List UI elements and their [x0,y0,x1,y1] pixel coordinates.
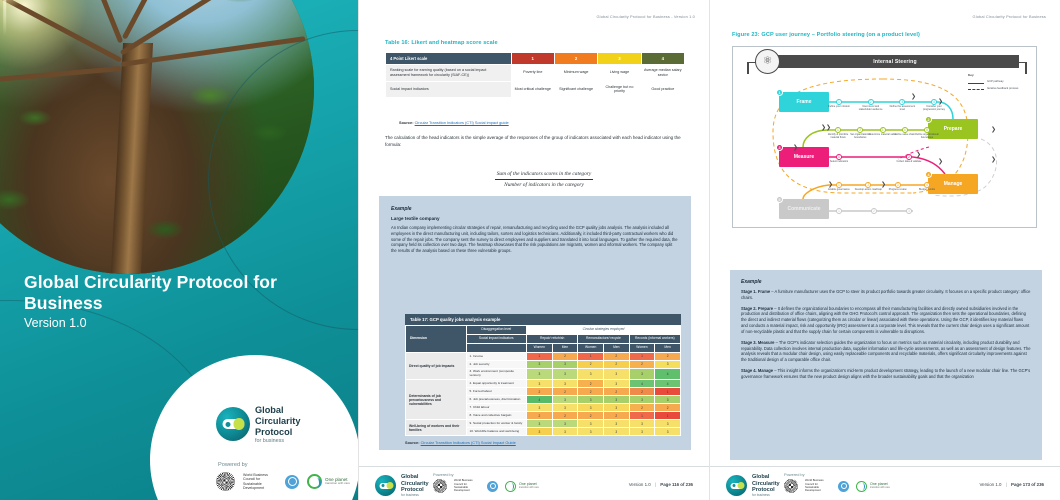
table-17-score-cell: 3 [527,380,553,388]
table-17-score-cell: 3 [629,368,655,379]
gcp-logomark-icon [726,475,747,496]
pathway-arrow-icon: ❯ [991,157,996,163]
table-17-score-cell: 3 [552,404,578,412]
table-17-score-cell: 3 [603,380,629,388]
table-17-score-cell: 2 [527,412,553,420]
legend-row-dashed: Iterative feedback process [968,87,1030,91]
table-16-cell: Average median salary sector [641,65,684,82]
logo-line-2: Circularity [255,416,300,426]
table-17-indicator-header: Social impact indicators [466,334,527,343]
table-17-score-cell: 3 [578,396,604,404]
pathway-arrow-icon: ❯ [991,127,996,133]
logo-line-1: Global [255,405,284,415]
table-17-score-cell: 3 [655,360,681,368]
one-planet-logo-icon [505,481,516,492]
table-16-header-left: 4 Point Likert scale [386,53,512,65]
stage-badge-4: 4 [925,171,932,178]
table-17-indicator-label: 9. Social protection for worker & family [466,420,527,428]
figure-23-user-journey-diagram: Internal Steering ⚛ Frame11Define your m… [732,46,1037,228]
partner-logos: World Business Council for Sustainable D… [216,472,350,491]
table-17-score-cell: 3 [552,360,578,368]
pathway-arrow-icon: ❯ [916,152,921,158]
table-17-score-cell: 3 [527,428,553,436]
table-16-source: Source: Circular Transition Indicators (… [399,120,509,125]
example-stage-title: Stage 4. Manage [741,368,773,373]
table-16-cell: Poverty line [511,65,554,82]
gcp-logo-wordmark: Global Circularity Protocol for business [752,474,780,498]
table-17-strategy-header: Remanufacture/ recycle [578,334,629,343]
table-17-score-cell: 2 [629,388,655,396]
table-17-subgroup-header: Men [603,343,629,352]
source-label: Source: [405,440,420,445]
table-row: Social impact indicatorsMost critical ch… [386,81,685,98]
source-link[interactable]: Circular Transition Indicators (CTI) Soc… [415,120,509,125]
footer-separator: | [1006,482,1007,487]
one-planet-logo: One planet transition with care [856,481,890,492]
table-17-score-cell: 2 [578,388,604,396]
example-label: Example [391,206,679,212]
table-16-score-header-4: 4 [641,53,684,65]
logo-line-2: Circularity [401,481,429,487]
journey-step-label: Define organizational boundaries [913,134,941,140]
powered-by-label: Powered by [433,472,454,477]
journey-step-label: Consider your progression journey [920,106,948,112]
legend-row-solid: GCP pathway [968,80,1030,84]
formula-numerator: Sum of the indicators scores in the cate… [495,171,594,180]
powered-by-label: Powered by [784,472,805,477]
table-17-score-cell: 2 [552,388,578,396]
sun-flare-icon [0,0,35,18]
table-17-score-cell: 2 [603,412,629,420]
table-17-quality-jobs: Table 17: GCP quality jobs analysis exam… [405,314,681,441]
figure-23-legend: Key GCP pathway Iterative feedback proce… [968,73,1030,93]
table-17-score-cell: 4 [655,380,681,388]
example-label: Example [741,279,1031,285]
table-17-score-cell: 1 [527,352,553,360]
table-17-score-cell: 2 [655,352,681,360]
table-17-indicator-label: 5. Forced labour [466,388,527,396]
journey-step-label: Budget results [913,189,941,192]
journey-stage-measure[interactable]: Measure [779,147,829,167]
table-17-score-cell: 3 [578,428,604,436]
table-17-score-cell: 3 [603,404,629,412]
table-17-subgroup-header: Men [655,343,681,352]
logo-line-2: Circularity [752,481,780,487]
table-17-subgroup-header: Women [527,343,553,352]
table-17-group-header-cell: Circular strategies employed [527,326,681,335]
wbcsd-logo-icon [433,479,447,493]
table-17-score-cell: 2 [552,412,578,420]
bar-drop-right [1025,62,1027,74]
table-16-cell: Significant challenge [554,81,597,98]
journey-stage-communicate[interactable]: Communicate [779,199,829,219]
table-17-strategy-header: Repair/ refurbish [527,334,578,343]
partner-logos: World Business Council for Sustainable D… [433,479,539,493]
table-17-score-cell: 2 [578,380,604,388]
table-17-score-cell: 1 [655,388,681,396]
table-17-score-cell: 1 [629,352,655,360]
table-17-disagg-header: Disaggregation level [466,326,527,335]
table-17-score-cell: 4 [655,368,681,379]
one-planet-line-2: transition with care [870,487,890,490]
pathway-arrow-icon: ❯ [881,182,886,188]
table-17-score-cell: 1 [629,412,655,420]
gcp-logo: Global Circularity Protocol for business [726,474,780,498]
journey-step-label: Enable governance [825,189,853,192]
one-planet-line-2: transition with care [325,482,350,486]
document-page-116: Global Circularity Protocol for Business… [358,0,709,500]
example-body: An Indian company implementing circular … [391,225,679,254]
powered-by-label: Powered by [218,462,248,468]
head-indicator-formula: Sum of the indicators scores in the cate… [459,162,629,188]
solid-line-swatch [968,83,984,84]
partner-logos: World Business Council for Sustainable D… [784,479,890,493]
table-17-score-cell: 3 [629,420,655,428]
table-17-caption: Table 17: GCP quality jobs analysis exam… [405,314,681,325]
journey-step-label: Progress review [884,189,912,192]
table-17-score-cell: 3 [578,404,604,412]
gcp-logo-wordmark: Global Circularity Protocol for business [401,474,429,498]
one-planet-logo-label: One planet transition with care [325,477,350,486]
footer-page-number: Page 116 of 236 [660,482,693,487]
table-17-score-cell: 2 [655,404,681,412]
table-17-score-cell: 1 [578,352,604,360]
example-stage-title: Stage 2. Prepare [741,306,773,311]
table-17-score-cell: 3 [603,420,629,428]
running-header: Global Circularity Protocol for Business [973,14,1046,19]
table-16-cell: Minimum wage [554,65,597,82]
table-17-dimension-label: Direct quality of job impacts [406,352,467,379]
journey-step-dot[interactable]: 2 [871,208,877,214]
footer-meta: Version 1.0 | Page 173 of 236 [979,482,1044,487]
table-17-indicator-label: 4. Equal opportunity & treatment [466,380,527,388]
table-17-dimension-label: Well-being of workers and their families [406,420,467,436]
table-17-score-cell: 3 [552,380,578,388]
table-17-indicator-label: 3. Work environment (composite version) [466,368,527,379]
pathway-arrow-icon: ❯ [938,159,943,165]
cover-title: Global Circularity Protocol for Business [24,272,334,314]
stage-badge-5: 5 [776,196,783,203]
table-16-cell: Most critical challenge [511,81,554,98]
document-page-173: Global Circularity Protocol for Business… [709,0,1060,500]
example-stage-title: Stage 3. Measure [741,340,774,345]
gcp-logomark-icon [216,407,250,441]
journey-step-dot[interactable]: 3 [906,208,912,214]
pathway-arrow-icon: ❯ [828,182,833,188]
table-17-score-cell: 2 [629,360,655,368]
running-header: Global Circularity Protocol for Business… [597,14,696,19]
unep-logo-icon [487,481,498,492]
footer-meta: Version 1.0 | Page 116 of 236 [629,482,693,487]
table-16-header-row: 4 Point Likert scale1234 [386,53,685,65]
table-17-score-cell: 2 [578,412,604,420]
gcp-logomark-icon [375,475,396,496]
table-17-source: Source: Circular Transition Indicators (… [405,440,681,445]
table-17-score-cell: 3 [655,420,681,428]
one-planet-logo: One planet transition with care [307,474,350,489]
table-17-score-cell: 2 [527,388,553,396]
footer-page-number: Page 173 of 236 [1011,482,1044,487]
pathway-arrow-icon: ❯ [821,125,826,131]
table-17-score-cell: 2 [603,388,629,396]
table-17-score-cell: 4 [527,396,553,404]
unep-logo-icon [838,481,849,492]
legend-label-solid: GCP pathway [987,80,1004,83]
footer-separator: | [655,482,656,487]
figure-23-caption: Figure 23: GCP user journey – Portfolio … [732,32,1042,38]
table-17-indicator-label: 6. Job precariousness, discrimination [466,396,527,404]
unep-logo-icon [285,475,299,489]
pathway-arrow-icon: ❯ [938,99,943,105]
table-row: Ranking scale for earning quality (based… [386,65,685,82]
table-row: Well-being of workers and their families… [406,420,681,428]
pathway-arrow-icon: ❯ [911,94,916,100]
example-stage-paragraph: Stage 4. Manage – This insight informs t… [741,368,1031,380]
cover-version: Version 1.0 [24,316,87,330]
example-callout-furniture: Example Stage 1. Frame – A furniture man… [730,270,1042,460]
journey-step-dot[interactable]: 1 [836,208,842,214]
logo-line-3: Protocol [255,427,292,437]
logo-sub: for business [401,494,429,498]
table-17-score-cell: 3 [552,368,578,379]
cover-page: Global Circularity Protocol for Business… [0,0,358,500]
journey-stage-frame[interactable]: Frame [779,92,829,112]
pathway-arrow-icon: ❯ [793,145,798,151]
table-17-indicator-label: 8. Voice and collective bargain [466,412,527,420]
table-17-score-cell: 3 [578,420,604,428]
table-16-score-header-3: 3 [598,53,641,65]
table-17-score-cell: 3 [603,368,629,379]
formula-denominator: Number of indicators in the category [459,180,629,188]
table-17-score-cell: 3 [629,396,655,404]
table-16-score-header-1: 1 [511,53,554,65]
example-stage-paragraph: Stage 1. Frame – A furniture manufacture… [741,289,1031,301]
journey-step-label: Intent level and stakeholder audience [857,106,885,112]
table-17-score-cell: 3 [552,428,578,436]
table-17-dimension-header: Dimension [406,326,467,353]
table-17-header-spacer [466,343,527,352]
journey-step-label: Collect data & validate [895,161,923,164]
table-row: Direct quality of job impacts1. Income12… [406,352,681,360]
logo-line-1: Global [752,474,769,480]
one-planet-logo: One planet transition with care [505,481,539,492]
internal-steering-bar: Internal Steering [771,55,1019,68]
table-17-indicator-label: 10. Work/life balance and well-being [466,428,527,436]
journey-step-label: Define your mission [825,106,853,109]
table-17-score-cell: 3 [603,396,629,404]
journey-step-label: Define the assessment level [888,106,916,112]
source-link[interactable]: Circular Transition Indicators (CTI) Soc… [421,440,516,445]
table-17-score-cell: 3 [603,428,629,436]
legend-title: Key [968,73,1030,77]
page-footer: Global Circularity Protocol for business… [359,466,709,500]
pathway-arrow-icon: ❯ [826,125,831,131]
wbcsd-logo-icon [784,479,798,493]
table-16-cell: Challenge but no priority [598,81,641,98]
journey-step-label: Select indicators [825,161,853,164]
bar-drop-left [747,62,749,74]
example-callout-textile: Example Large textile company An Indian … [379,196,691,450]
journey-step-label: Develop action roadmap [854,189,882,192]
example-stage-paragraph: Stage 2. Prepare – It defines the organi… [741,306,1031,335]
table-17-score-cell: 2 [629,404,655,412]
gcp-logo: Global Circularity Protocol for business [375,474,429,498]
table-16-row-label: Social impact indicators [386,81,512,98]
logo-sub: for business [752,494,780,498]
globe-icon: ⚛ [755,49,780,74]
calculation-paragraph: The calculation of the head indicators i… [385,135,685,148]
table-17-score-cell: 3 [527,360,553,368]
wbcsd-logo-label: World Business Council for Sustainable D… [243,473,277,491]
page-footer: Global Circularity Protocol for business… [710,466,1060,500]
table-17-score-cell: 3 [552,396,578,404]
table-17-score-cell: 3 [655,428,681,436]
gcp-logo: Global Circularity Protocol for business [216,405,300,444]
table-17-indicator-label: 2. Job security [466,360,527,368]
source-label: Source: [399,120,414,125]
table-16-score-header-2: 2 [554,53,597,65]
table-17-score-cell: 3 [629,428,655,436]
table-17-subgroup-header: Women [578,343,604,352]
stage-badge-1: 1 [776,89,783,96]
table-17-score-cell: 3 [578,368,604,379]
wbcsd-logo-label: World Business Council for Sustainable D… [454,479,480,493]
table-17-score-cell: 4 [629,380,655,388]
table-17-score-cell: 3 [527,404,553,412]
example-stage-paragraph: Stage 3. Measure – The GCP's indicator s… [741,340,1031,363]
table-16-likert-scale: 4 Point Likert scale1234Ranking scale fo… [385,52,685,98]
example-subtitle: Large textile company [391,216,679,221]
gcp-logo-wordmark: Global Circularity Protocol for business [255,405,300,444]
table-17-indicator-label: 7. Child labour [466,404,527,412]
logo-line-1: Global [401,474,418,480]
example-stage-title: Stage 1. Frame [741,289,770,294]
table-16-cell: Living wage [598,65,641,82]
table-17-indicator-label: 1. Income [466,352,527,360]
wbcsd-logo-icon [216,472,235,491]
one-planet-logo-icon [307,474,322,489]
footer-version: Version 1.0 [979,482,1001,487]
stage-badge-2: 2 [925,116,932,123]
table-17-subgroup-header: Men [552,343,578,352]
table-17-score-cell: 2 [552,352,578,360]
table-16-cell: Good practice [641,81,684,98]
table-17-dimension-label: Determinants of job precariousness and v… [406,380,467,420]
table-17-score-cell: 2 [603,360,629,368]
table-17-score-cell: 3 [655,396,681,404]
table-17-score-cell: 3 [527,420,553,428]
table-16-row-label: Ranking scale for earning quality (based… [386,65,512,82]
table-17-strategy-header: Records (informal workers) [629,334,680,343]
footer-version: Version 1.0 [629,482,651,487]
stage-badge-3: 3 [776,144,783,151]
legend-label-dashed: Iterative feedback process [987,87,1018,90]
table-17-score-cell: 1 [655,412,681,420]
logo-sub: for business [255,438,300,444]
table-row: Determinants of job precariousness and v… [406,380,681,388]
table-17-subgroup-header: Women [629,343,655,352]
table-17-header-row: DimensionDisaggregation levelCircular st… [406,326,681,335]
dashed-line-swatch [968,89,984,90]
table-17-score-cell: 3 [552,420,578,428]
one-planet-logo-icon [856,481,867,492]
table-17-score-cell: 2 [603,352,629,360]
table-17-score-cell: 2 [578,360,604,368]
table-17-score-cell: 3 [527,368,553,379]
wbcsd-logo-label: World Business Council for Sustainable D… [805,479,831,493]
example-stage-list: Stage 1. Frame – A furniture manufacture… [741,289,1031,380]
one-planet-line-2: transition with care [519,487,539,490]
table-16-caption: Table 16: Likert and heatmap score scale [385,40,498,46]
